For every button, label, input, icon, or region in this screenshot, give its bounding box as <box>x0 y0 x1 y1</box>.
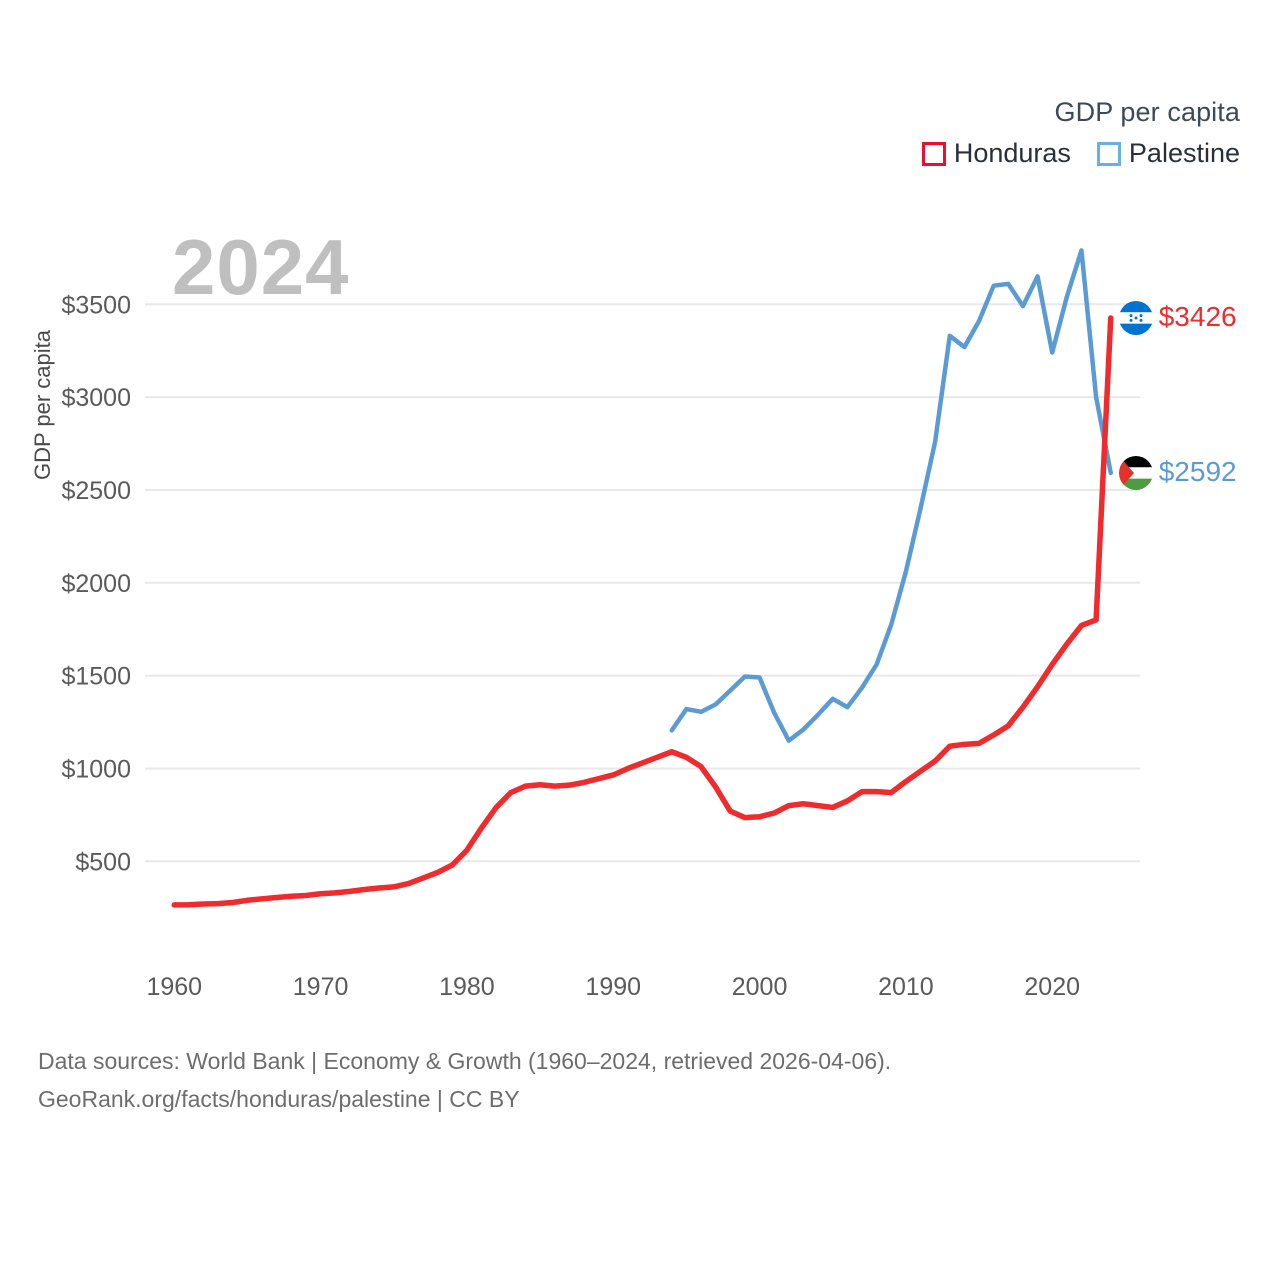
y-tick-label: $3500 <box>61 291 131 319</box>
palestine-flag-icon <box>1119 456 1153 490</box>
x-tick-label: 1970 <box>293 973 349 1001</box>
palestine-endpoint-value: $2592 <box>1159 458 1237 486</box>
x-tick-label: 2010 <box>878 973 934 1001</box>
honduras-endpoint-value: $3426 <box>1159 303 1237 331</box>
y-tick-label: $3000 <box>61 384 131 412</box>
gridlines <box>145 304 1140 861</box>
x-axis-tick-labels: 1960197019801990200020102020 <box>146 973 1080 1001</box>
series-line <box>672 250 1111 740</box>
x-tick-label: 2000 <box>732 973 788 1001</box>
y-tick-label: $1000 <box>61 755 131 783</box>
series-lines <box>174 250 1110 905</box>
y-axis-tick-labels: $500$1000$1500$2000$2500$3000$3500 <box>61 291 131 876</box>
footer-line-2: GeoRank.org/facts/honduras/palestine | C… <box>38 1081 891 1119</box>
honduras-flag-icon <box>1119 301 1153 335</box>
y-tick-label: $2500 <box>61 477 131 505</box>
gdp-per-capita-chart: GDP per capita Honduras Palestine 2024 G… <box>0 0 1280 1280</box>
y-tick-label: $1500 <box>61 663 131 691</box>
footer-line-1: Data sources: World Bank | Economy & Gro… <box>38 1043 891 1081</box>
x-tick-label: 1960 <box>146 973 202 1001</box>
y-tick-label: $500 <box>75 848 131 876</box>
footer-sources: Data sources: World Bank | Economy & Gro… <box>38 1043 891 1119</box>
x-tick-label: 1980 <box>439 973 495 1001</box>
series-line <box>174 318 1110 905</box>
x-tick-label: 1990 <box>585 973 641 1001</box>
x-tick-label: 2020 <box>1024 973 1080 1001</box>
y-tick-label: $2000 <box>61 570 131 598</box>
